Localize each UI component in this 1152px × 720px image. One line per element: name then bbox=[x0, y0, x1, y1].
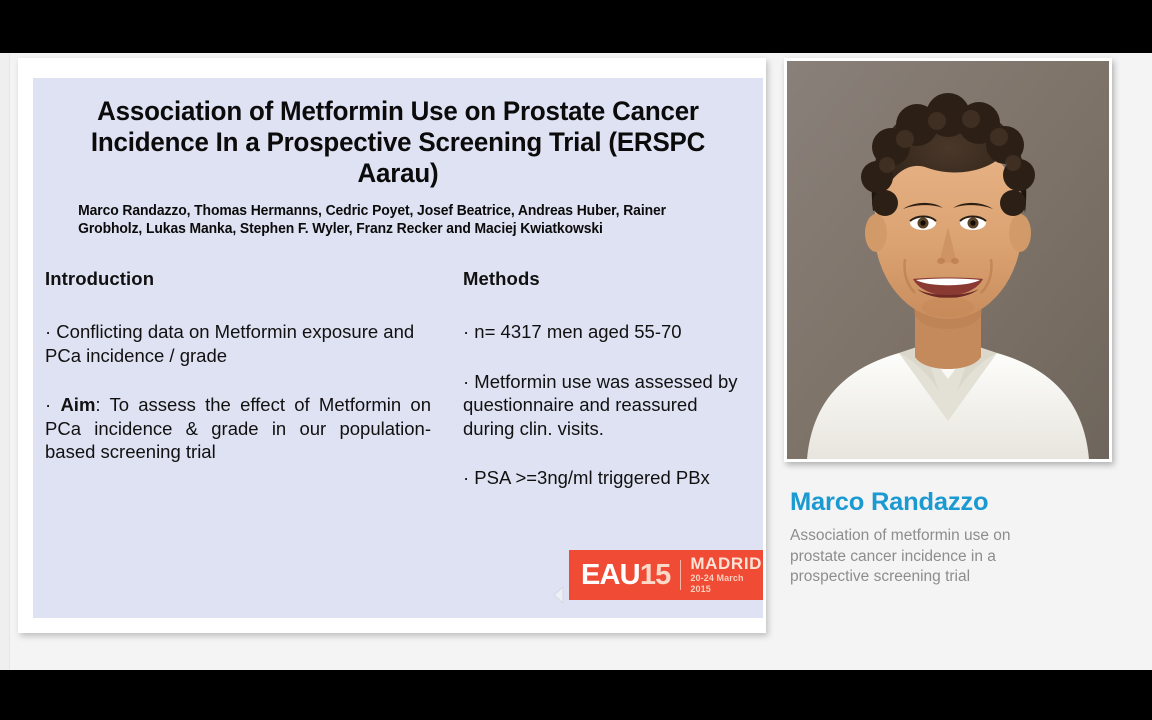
letterbox-top bbox=[0, 0, 1152, 53]
introduction-heading: Introduction bbox=[45, 268, 431, 290]
eau-logo-wordmark: EAU15 bbox=[581, 561, 671, 590]
speaker-photo bbox=[787, 61, 1109, 459]
eau-city: MADRID bbox=[690, 555, 763, 573]
speaker-panel: Marco Randazzo Association of metformin … bbox=[784, 58, 1124, 588]
slide-columns: Introduction · Conflicting data on Metfo… bbox=[33, 268, 763, 490]
methods-bullet-3: · PSA >=3ng/ml triggered PBx bbox=[463, 466, 749, 490]
speaker-photo-frame bbox=[784, 58, 1112, 462]
introduction-bullet-1: · Conflicting data on Metformin exposure… bbox=[45, 320, 431, 367]
eau-dates: 20-24 March 2015 bbox=[690, 573, 763, 595]
column-introduction: Introduction · Conflicting data on Metfo… bbox=[33, 268, 451, 490]
left-rail bbox=[0, 53, 10, 670]
bullet-marker: · bbox=[45, 394, 51, 415]
methods-bullet-1: · n= 4317 men aged 55-70 bbox=[463, 320, 749, 344]
methods-heading: Methods bbox=[463, 268, 749, 290]
slide-surface: Association of Metformin Use on Prostate… bbox=[33, 78, 763, 618]
introduction-bullet-2: · Aim: To assess the effect of Metformin… bbox=[45, 393, 431, 464]
eau-logo-location: MADRID 20-24 March 2015 bbox=[690, 555, 763, 595]
slide-authors: Marco Randazzo, Thomas Hermanns, Cedric … bbox=[33, 189, 734, 238]
column-methods: Methods · n= 4317 men aged 55-70 · Metfo… bbox=[451, 268, 763, 490]
aim-label: Aim bbox=[60, 394, 95, 415]
methods-bullet-2: · Metformin use was assessed by question… bbox=[463, 370, 749, 441]
slide-card[interactable]: Association of Metformin Use on Prostate… bbox=[18, 58, 766, 633]
speaker-description: Association of metformin use on prostate… bbox=[790, 526, 1042, 588]
speaker-name: Marco Randazzo bbox=[790, 488, 1131, 517]
letterbox-bottom bbox=[0, 670, 1152, 720]
eau-year: 15 bbox=[640, 559, 671, 591]
chevron-left-icon bbox=[552, 585, 566, 605]
prev-slide-button[interactable] bbox=[548, 580, 570, 610]
eau-congress-logo: EAU15 MADRID 20-24 March 2015 bbox=[569, 550, 763, 600]
speaker-portrait-illustration bbox=[787, 61, 1109, 459]
slide-title: Association of Metformin Use on Prostate… bbox=[48, 78, 749, 189]
eau-acronym: EAU bbox=[581, 559, 640, 591]
aim-text: : To assess the effect of Metformin on P… bbox=[45, 394, 431, 462]
eau-logo-divider bbox=[680, 560, 682, 590]
